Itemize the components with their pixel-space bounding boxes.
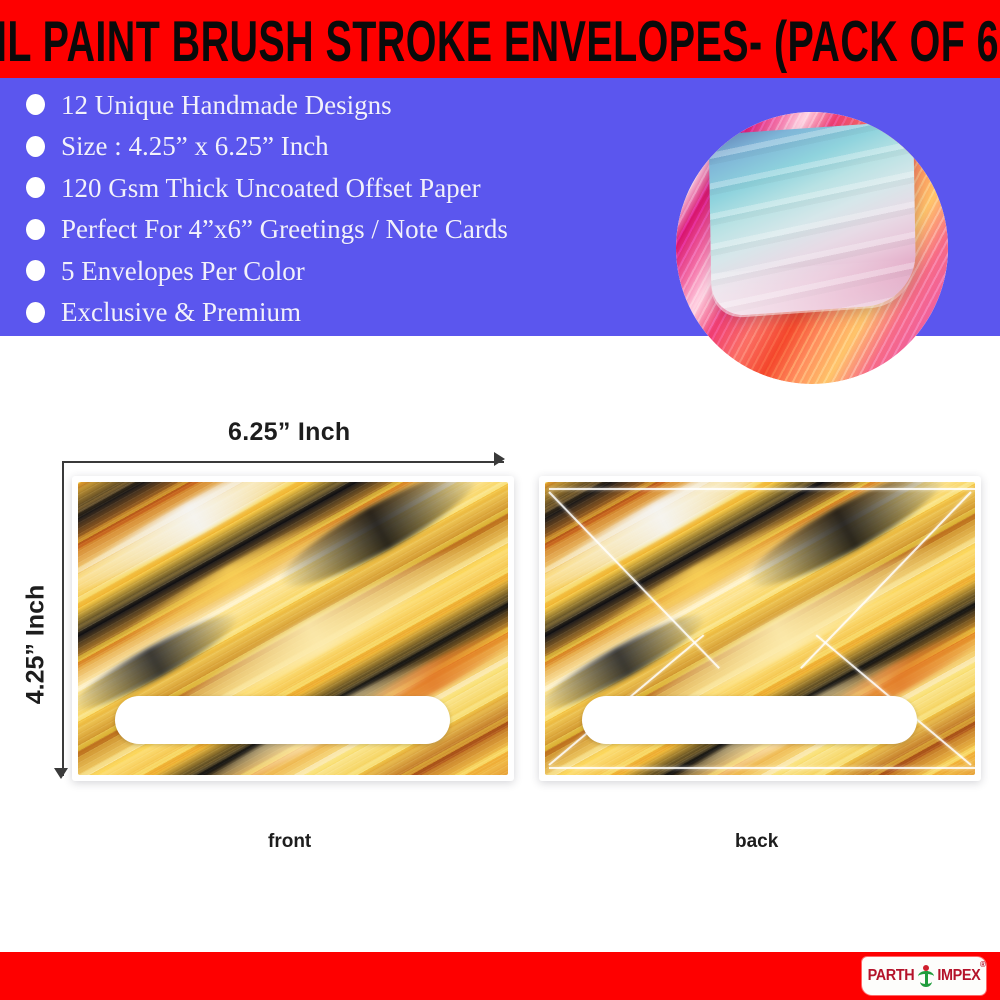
- person-figure-icon: [918, 965, 934, 987]
- figure-legs: [920, 976, 932, 987]
- feature-label: 5 Envelopes Per Color: [61, 257, 305, 285]
- title-bar: OIL PAINT BRUSH STROKE ENVELOPES- (PACK …: [0, 0, 1000, 78]
- list-item: 12 Unique Handmade Designs: [26, 84, 706, 126]
- width-dimension-line: [62, 461, 504, 463]
- bullet-icon: [26, 177, 45, 198]
- envelope-front-caption: front: [268, 831, 311, 853]
- bullet-icon: [26, 260, 45, 281]
- envelope-back-card: [539, 476, 981, 781]
- height-arrow-icon: [54, 768, 68, 779]
- envelope-back-caption: back: [735, 831, 778, 853]
- footer-bar: [0, 952, 1000, 1000]
- feature-label: Size : 4.25” x 6.25” Inch: [61, 132, 329, 160]
- brand-logo-row: PARTH IMPEX ®: [865, 965, 983, 987]
- feature-label: 120 Gsm Thick Uncoated Offset Paper: [61, 174, 481, 202]
- fold-line: [549, 488, 975, 490]
- feature-label: 12 Unique Handmade Designs: [61, 91, 392, 119]
- bullet-icon: [26, 302, 45, 323]
- list-item: Exclusive & Premium: [26, 292, 706, 334]
- address-label-area: [115, 696, 450, 744]
- list-item: Size : 4.25” x 6.25” Inch: [26, 126, 706, 168]
- height-dimension-line: [62, 461, 64, 776]
- height-dimension-label: 4.25” Inch: [22, 565, 51, 725]
- envelope-flap-art: [709, 121, 917, 318]
- envelope-back-art: [545, 482, 975, 775]
- list-item: 120 Gsm Thick Uncoated Offset Paper: [26, 167, 706, 209]
- brand-name-right: IMPEX: [937, 967, 980, 985]
- address-label-area: [582, 696, 917, 744]
- envelope-front-art: [78, 482, 508, 775]
- product-photo-circle: [676, 112, 948, 384]
- feature-label: Exclusive & Premium: [61, 298, 301, 326]
- envelope-front-card: [72, 476, 514, 781]
- brand-logo: PARTH IMPEX ®: [862, 957, 986, 995]
- product-infographic: OIL PAINT BRUSH STROKE ENVELOPES- (PACK …: [0, 0, 1000, 1000]
- registered-trademark-icon: ®: [980, 960, 986, 969]
- feature-list: 12 Unique Handmade Designs Size : 4.25” …: [26, 84, 706, 333]
- product-photo-clip: [676, 112, 948, 384]
- list-item: Perfect For 4”x6” Greetings / Note Cards: [26, 209, 706, 251]
- list-item: 5 Envelopes Per Color: [26, 250, 706, 292]
- bullet-icon: [26, 219, 45, 240]
- bullet-icon: [26, 94, 45, 115]
- fold-line: [549, 767, 975, 769]
- width-arrow-icon: [494, 452, 505, 466]
- feature-label: Perfect For 4”x6” Greetings / Note Cards: [61, 215, 508, 243]
- brand-name-left: PARTH: [868, 967, 915, 985]
- page-title: OIL PAINT BRUSH STROKE ENVELOPES- (PACK …: [0, 9, 1000, 69]
- width-dimension-label: 6.25” Inch: [228, 418, 351, 447]
- bullet-icon: [26, 136, 45, 157]
